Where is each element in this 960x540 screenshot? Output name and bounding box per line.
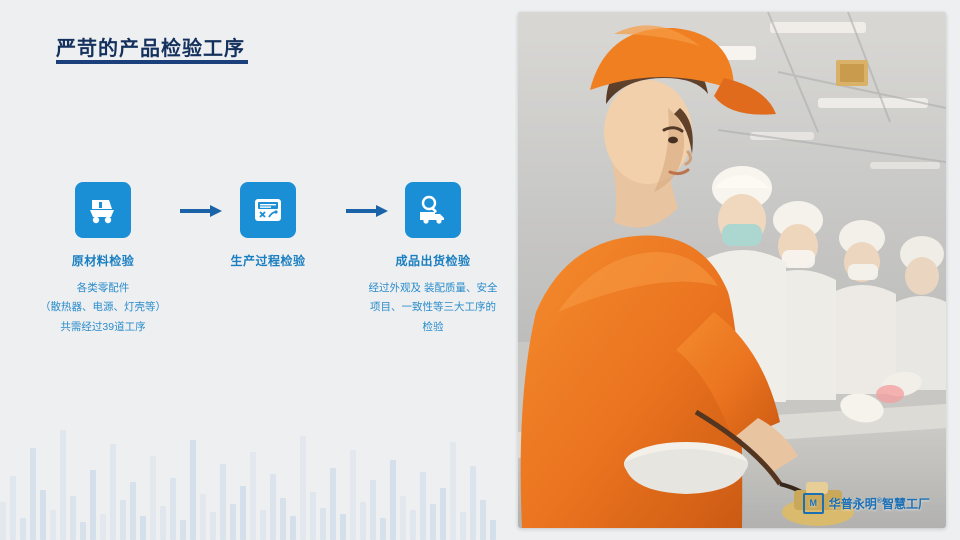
decorative-bar xyxy=(280,498,286,540)
process-step-3-label: 成品出货检验 xyxy=(358,252,508,269)
decorative-bar xyxy=(370,480,376,540)
desc-line: 项目、一致性等三大工序的 xyxy=(358,298,508,317)
desc-line: 经过外观及 装配质量、安全 xyxy=(358,279,508,298)
decorative-bar xyxy=(0,502,6,540)
decorative-bar xyxy=(110,444,116,540)
process-step-1-label: 原材料检验 xyxy=(28,252,178,269)
decorative-bar xyxy=(20,518,26,540)
decorative-bar xyxy=(130,482,136,540)
process-step-3: 成品出货检验 经过外观及 装配质量、安全 项目、一致性等三大工序的 检验 xyxy=(358,182,508,337)
logo-text: 华普永明®智慧工厂 xyxy=(829,495,930,512)
decorative-bar xyxy=(10,476,16,540)
process-step-1-desc: 各类零配件 （散热器、电源、灯壳等） 共需经过39道工序 xyxy=(28,279,178,337)
decorative-bar xyxy=(190,440,196,540)
decorative-bar xyxy=(460,512,466,540)
decorative-bar xyxy=(270,474,276,540)
decorative-bar xyxy=(120,500,126,540)
process-step-1: 原材料检验 各类零配件 （散热器、电源、灯壳等） 共需经过39道工序 xyxy=(28,182,178,337)
decorative-bar xyxy=(60,430,66,540)
decorative-bar xyxy=(290,516,296,540)
decorative-bar xyxy=(40,490,46,540)
decorative-bar xyxy=(430,504,436,540)
decorative-bar xyxy=(410,510,416,540)
truck-dump-icon xyxy=(75,182,131,238)
decorative-bar xyxy=(180,520,186,540)
logo-brand: 华普永明 xyxy=(829,497,877,511)
desc-line: （散热器、电源、灯壳等） xyxy=(28,298,178,317)
decorative-bar xyxy=(480,500,486,540)
title-underline xyxy=(56,60,248,64)
decorative-bar xyxy=(340,514,346,540)
decorative-bar xyxy=(320,508,326,540)
process-step-2-label: 生产过程检验 xyxy=(193,252,343,269)
decorative-bar xyxy=(70,496,76,540)
decorative-bar xyxy=(490,520,496,540)
decorative-bar xyxy=(230,504,236,540)
decorative-bar xyxy=(300,436,306,540)
logo-suffix: 智慧工厂 xyxy=(882,497,930,511)
decorative-bar xyxy=(350,450,356,540)
decorative-bar xyxy=(160,506,166,540)
decorative-bar xyxy=(400,496,406,540)
process-step-2: 生产过程检验 xyxy=(193,182,343,269)
truck-inspect-icon xyxy=(405,182,461,238)
process-step-3-desc: 经过外观及 装配质量、安全 项目、一致性等三大工序的 检验 xyxy=(358,279,508,337)
factory-photo: M 华普永明®智慧工厂 xyxy=(518,12,946,528)
desc-line: 各类零配件 xyxy=(28,279,178,298)
decorative-bar xyxy=(360,502,366,540)
decorative-bar xyxy=(150,456,156,540)
desc-line: 检验 xyxy=(358,318,508,337)
decorative-bars xyxy=(0,390,520,540)
decorative-bar xyxy=(80,522,86,540)
desc-line: 共需经过39道工序 xyxy=(28,318,178,337)
decorative-bar xyxy=(140,516,146,540)
decorative-bar xyxy=(390,460,396,540)
decorative-bar xyxy=(330,468,336,540)
decorative-bar xyxy=(440,488,446,540)
decorative-bar xyxy=(420,472,426,540)
decorative-bar xyxy=(200,494,206,540)
page-title: 严苛的产品检验工序 xyxy=(56,32,245,61)
decorative-bar xyxy=(250,452,256,540)
decorative-bar xyxy=(170,478,176,540)
decorative-bar xyxy=(470,466,476,540)
monitor-tools-icon xyxy=(240,182,296,238)
decorative-bar xyxy=(240,486,246,540)
decorative-bar xyxy=(220,464,226,540)
decorative-bar xyxy=(260,510,266,540)
decorative-bar xyxy=(50,510,56,540)
decorative-bar xyxy=(100,514,106,540)
decorative-bar xyxy=(30,448,36,540)
slide-root: 严苛的产品检验工序 原材料检验 各类零配件 （散热器、电源、灯壳等） 共需经过3… xyxy=(0,0,960,540)
decorative-bar xyxy=(450,442,456,540)
decorative-bar xyxy=(90,470,96,540)
decorative-bar xyxy=(210,512,216,540)
logo-mark-icon: M xyxy=(803,493,824,514)
factory-photo-image xyxy=(518,12,946,528)
brand-logo: M 华普永明®智慧工厂 xyxy=(803,493,930,514)
decorative-bar xyxy=(380,518,386,540)
decorative-bar xyxy=(310,492,316,540)
